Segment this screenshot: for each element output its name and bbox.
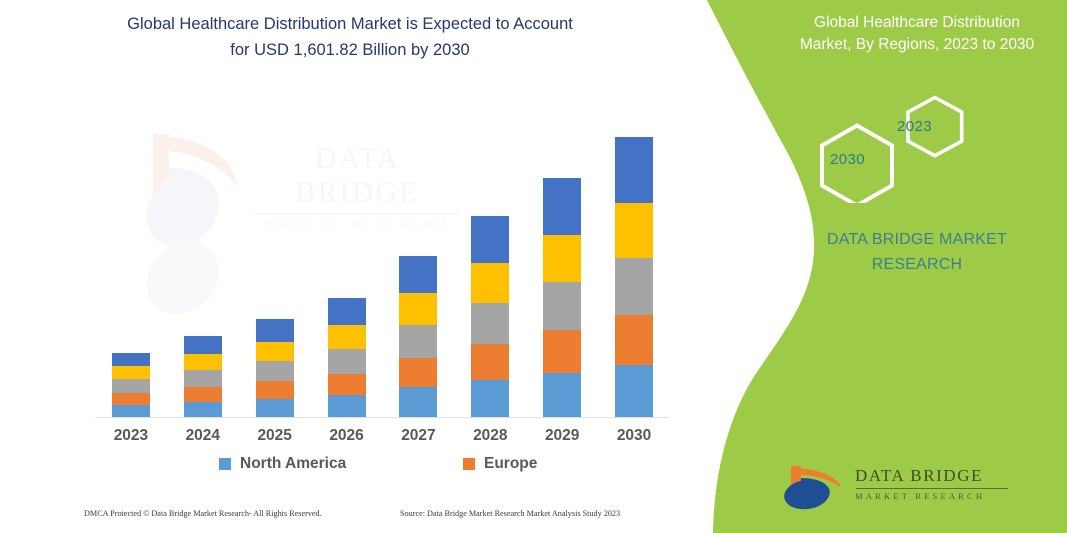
bar-segment-middle-east-and-africa-2030[interactable] — [615, 137, 653, 203]
x-axis-label-2029: 2029 — [526, 427, 598, 445]
bar-segment-north-america-2024[interactable] — [184, 402, 222, 418]
bar-segment-asia-pacific-2023[interactable] — [112, 379, 150, 393]
bar-segment-middle-east-and-africa-2024[interactable] — [184, 336, 222, 354]
legend-swatch-north-america — [219, 458, 231, 470]
bar-segment-asia-pacific-2026[interactable] — [328, 349, 366, 374]
bar-segment-middle-east-and-africa-2026[interactable] — [328, 298, 366, 325]
bar-segment-middle-east-and-africa-2023[interactable] — [112, 353, 150, 366]
footer-copyright: DMCA Protected © Data Bridge Market Rese… — [84, 509, 322, 518]
bar-segment-asia-pacific-2028[interactable] — [471, 303, 509, 344]
x-axis-label-2024: 2024 — [167, 427, 239, 445]
x-axis-label-2027: 2027 — [382, 427, 454, 445]
bar-segment-europe-2023[interactable] — [112, 393, 150, 405]
logo-name-line-1: DATA BRIDGE — [855, 466, 1008, 486]
bar-column-2023[interactable] — [112, 353, 150, 418]
panel-heading-line-2: Market, By Regions, 2023 to 2030 — [772, 34, 1062, 56]
bar-segment-north-america-2025[interactable] — [256, 399, 294, 418]
data-bridge-logo: DATA BRIDGE MARKET RESEARCH — [777, 462, 1057, 518]
x-axis-label-2023: 2023 — [95, 427, 167, 445]
footer: DMCA Protected © Data Bridge Market Rese… — [0, 505, 700, 527]
legend-swatch-europe — [463, 458, 475, 470]
bar-segment-south-america-2028[interactable] — [471, 263, 509, 303]
chart-legend: North AmericaEurope — [95, 455, 670, 481]
bar-segment-north-america-2030[interactable] — [615, 365, 653, 418]
bar-segment-north-america-2027[interactable] — [399, 387, 437, 418]
bar-chart-plot — [95, 120, 670, 418]
logo-divider — [856, 488, 1008, 489]
bar-segment-asia-pacific-2030[interactable] — [615, 258, 653, 315]
legend-item-north-america[interactable]: North America — [219, 455, 346, 473]
bar-segment-middle-east-and-africa-2027[interactable] — [399, 256, 437, 293]
x-axis-label-2025: 2025 — [239, 427, 311, 445]
bar-segment-north-america-2028[interactable] — [471, 380, 509, 418]
bar-column-2024[interactable] — [184, 336, 222, 418]
bar-segment-europe-2030[interactable] — [615, 315, 653, 365]
bar-segment-asia-pacific-2025[interactable] — [256, 361, 294, 381]
x-axis-label-2028: 2028 — [454, 427, 526, 445]
bar-segment-europe-2024[interactable] — [184, 387, 222, 402]
x-axis-label-2026: 2026 — [311, 427, 383, 445]
bar-column-2027[interactable] — [399, 256, 437, 418]
bar-segment-europe-2025[interactable] — [256, 381, 294, 399]
bar-segment-south-america-2026[interactable] — [328, 325, 366, 349]
bar-column-2030[interactable] — [615, 137, 653, 418]
data-bridge-b-logo-icon — [777, 462, 849, 516]
bar-segment-south-america-2025[interactable] — [256, 342, 294, 361]
chart-title: Global Healthcare Distribution Market is… — [40, 12, 660, 63]
bar-column-2028[interactable] — [471, 216, 509, 418]
bar-column-2029[interactable] — [543, 178, 581, 418]
x-axis-labels: 20232024202520262027202820292030 — [95, 427, 670, 451]
chart-baseline — [95, 417, 670, 418]
hexagon-badge-group: 2030 2023 — [787, 93, 1057, 203]
bar-segment-north-america-2026[interactable] — [328, 395, 366, 418]
bar-segment-europe-2028[interactable] — [471, 344, 509, 380]
panel-brand-text: DATA BRIDGE MARKET RESEARCH — [767, 228, 1067, 278]
bar-segment-europe-2026[interactable] — [328, 374, 366, 395]
panel-brand-line-1: DATA BRIDGE MARKET — [767, 228, 1067, 253]
legend-label: Europe — [484, 455, 537, 473]
bar-segment-south-america-2027[interactable] — [399, 293, 437, 325]
bar-segment-south-america-2023[interactable] — [112, 366, 150, 379]
hexagon-label-2023: 2023 — [897, 118, 932, 135]
bar-column-2026[interactable] — [328, 298, 366, 418]
bar-segment-middle-east-and-africa-2029[interactable] — [543, 178, 581, 235]
bar-segment-asia-pacific-2029[interactable] — [543, 282, 581, 330]
footer-source: Source: Data Bridge Market Research Mark… — [400, 509, 620, 518]
hexagon-label-2030: 2030 — [830, 151, 865, 168]
panel-brand-line-2: RESEARCH — [767, 253, 1067, 278]
chart-title-line-1: Global Healthcare Distribution Market is… — [40, 12, 660, 38]
logo-name-line-2: MARKET RESEARCH — [855, 491, 1008, 501]
legend-item-europe[interactable]: Europe — [463, 455, 537, 473]
bar-segment-south-america-2024[interactable] — [184, 354, 222, 370]
bar-segment-south-america-2030[interactable] — [615, 203, 653, 258]
bar-segment-middle-east-and-africa-2028[interactable] — [471, 216, 509, 263]
bar-segment-south-america-2029[interactable] — [543, 235, 581, 282]
bar-segment-middle-east-and-africa-2025[interactable] — [256, 319, 294, 342]
panel-heading: Global Healthcare Distribution Market, B… — [772, 12, 1062, 57]
legend-label: North America — [240, 455, 346, 473]
panel-heading-line-1: Global Healthcare Distribution — [772, 12, 1062, 34]
x-axis-label-2030: 2030 — [598, 427, 670, 445]
bar-segment-north-america-2029[interactable] — [543, 373, 581, 418]
bar-segment-europe-2027[interactable] — [399, 358, 437, 387]
chart-title-line-2: for USD 1,601.82 Billion by 2030 — [40, 38, 660, 64]
bar-segment-asia-pacific-2024[interactable] — [184, 370, 222, 387]
bar-segment-asia-pacific-2027[interactable] — [399, 325, 437, 358]
bar-column-2025[interactable] — [256, 319, 294, 418]
bar-segment-europe-2029[interactable] — [543, 330, 581, 373]
